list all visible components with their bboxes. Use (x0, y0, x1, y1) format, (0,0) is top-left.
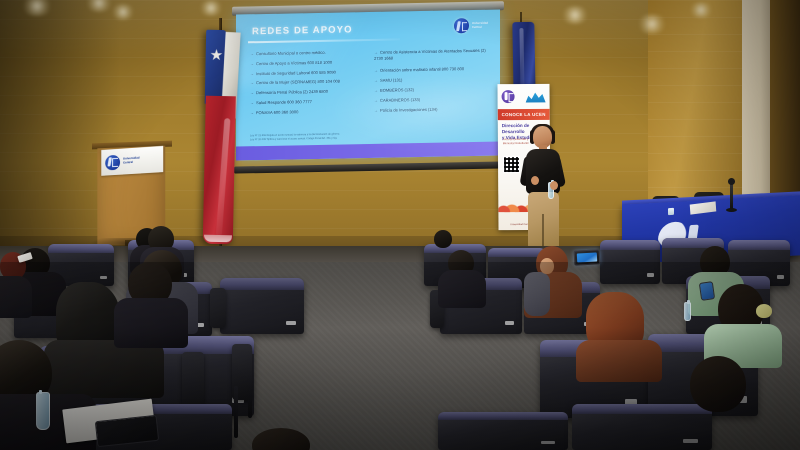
banner-logos (502, 88, 546, 105)
slide-title: REDES DE APOYO (252, 24, 353, 37)
universidad-central-logo-icon (454, 18, 469, 33)
list-item: →CARABINEROS (133) (374, 96, 490, 103)
person-body (438, 270, 486, 308)
arrow-icon: → (250, 110, 254, 115)
seat-tag (647, 273, 654, 277)
ceiling-light-icon (636, 14, 668, 34)
slide-logo-text: Universidad Central (472, 22, 488, 30)
ceiling-light-icon (688, 2, 714, 18)
person-arm (524, 272, 550, 316)
arrow-icon: → (374, 68, 378, 73)
seat-tag (100, 276, 107, 279)
arrow-icon: → (374, 107, 378, 112)
person-head (434, 230, 452, 248)
list-item: →Instituto de Seguridad Laboral 600 585 … (250, 70, 366, 77)
list-item: →Centro de la Mujer (SERNAMEG) 800 104 0… (250, 80, 366, 87)
chilean-flag (201, 30, 239, 243)
list-item: →BOMBEROS (132) (374, 87, 490, 94)
smartphone[interactable] (574, 249, 601, 265)
ceiling-light-icon (560, 6, 590, 24)
universidad-central-logo-icon (105, 154, 120, 170)
seat-tag (683, 439, 698, 443)
logo-line-2: Central (472, 25, 488, 29)
projection-screen: REDES DE APOYO Universidad Central →Cons… (232, 4, 504, 170)
seat-tag (505, 321, 514, 325)
arrow-icon: → (250, 100, 254, 105)
auditorium-seat (220, 278, 304, 334)
slide-title-rule (248, 38, 400, 43)
auditorium-seat (600, 240, 660, 284)
sign-line-2: Central (123, 160, 140, 165)
secondary-logo-icon (526, 90, 546, 102)
auditorium-seat (438, 412, 568, 450)
water-bottle (36, 392, 50, 430)
person-body (114, 298, 188, 348)
microphone-icon (730, 182, 733, 210)
banner-headline: CONOCE LA UCEN (502, 112, 546, 117)
seat-leg (234, 386, 238, 438)
seat-tag (286, 321, 295, 325)
lectern-sign: Universidad Central (101, 146, 163, 176)
seat-tag (777, 275, 784, 279)
slide-logo: Universidad Central (454, 18, 488, 34)
list-item: →Consultorio Municipal o centro médico. (250, 50, 366, 57)
banner-headline-band: CONOCE LA UCEN (498, 109, 550, 120)
seat-tag (541, 441, 555, 444)
slide-bottom-band (236, 141, 500, 160)
list-item: →Defensoría Penal Pública (2) 2439 6800 (250, 89, 366, 96)
person-hand (540, 258, 554, 274)
presenter-hand (531, 176, 539, 185)
arrow-icon: → (374, 88, 378, 93)
person-body (0, 276, 32, 318)
arrow-icon: → (374, 98, 378, 103)
water-bottle (684, 302, 691, 321)
person-head (690, 356, 746, 412)
ceiling-light-icon (198, 0, 224, 16)
flag-hem (204, 235, 232, 243)
arrow-icon: → (250, 81, 254, 86)
list-item: →SAMU (131) (374, 77, 490, 84)
list-item: →Centro de Apoyo a Víctimas 600 818 1000 (250, 60, 366, 67)
list-item: →FONASA 600 360 3000 (250, 109, 366, 116)
slide-column-right: →Centro de Asistencia a Víctimas de Aten… (374, 48, 490, 142)
person-body (576, 340, 662, 382)
list-item: →Policía de Investigaciones (134) (374, 106, 490, 113)
presenter-hand (550, 181, 558, 190)
arrow-icon: → (250, 51, 254, 56)
scrunchie-icon (756, 304, 772, 318)
seat-armrest (210, 288, 226, 328)
ceiling-light-icon (110, 4, 136, 20)
arrow-icon: → (250, 91, 254, 96)
arrow-icon: → (374, 78, 378, 83)
slide-bullet-columns: →Consultorio Municipal o centro médico. … (250, 48, 490, 145)
auditorium-seat (572, 404, 712, 450)
slide-column-left: →Consultorio Municipal o centro médico. … (250, 50, 366, 144)
slide-surface: REDES DE APOYO Universidad Central →Cons… (236, 9, 500, 160)
arrow-icon: → (250, 61, 254, 66)
list-item: →Salud Responde 600 360 7777 (250, 99, 366, 106)
lectern-sign-text: Universidad Central (123, 157, 140, 166)
list-item: →Centro de Asistencia a Víctimas de Aten… (374, 48, 490, 63)
person-body (44, 340, 164, 398)
list-item: →Orientación sobre maltrato infantil 800… (374, 65, 490, 73)
table-cup (668, 208, 674, 215)
seat-armrest (182, 352, 204, 412)
auditorium-scene: REDES DE APOYO Universidad Central →Cons… (0, 0, 800, 450)
tablet-device (699, 281, 715, 301)
universidad-central-logo-icon (502, 90, 515, 103)
phone-screen (577, 252, 597, 263)
arrow-icon: → (250, 71, 254, 76)
arrow-icon: → (374, 50, 378, 55)
presenter (512, 126, 576, 256)
seat-leg (248, 372, 252, 418)
